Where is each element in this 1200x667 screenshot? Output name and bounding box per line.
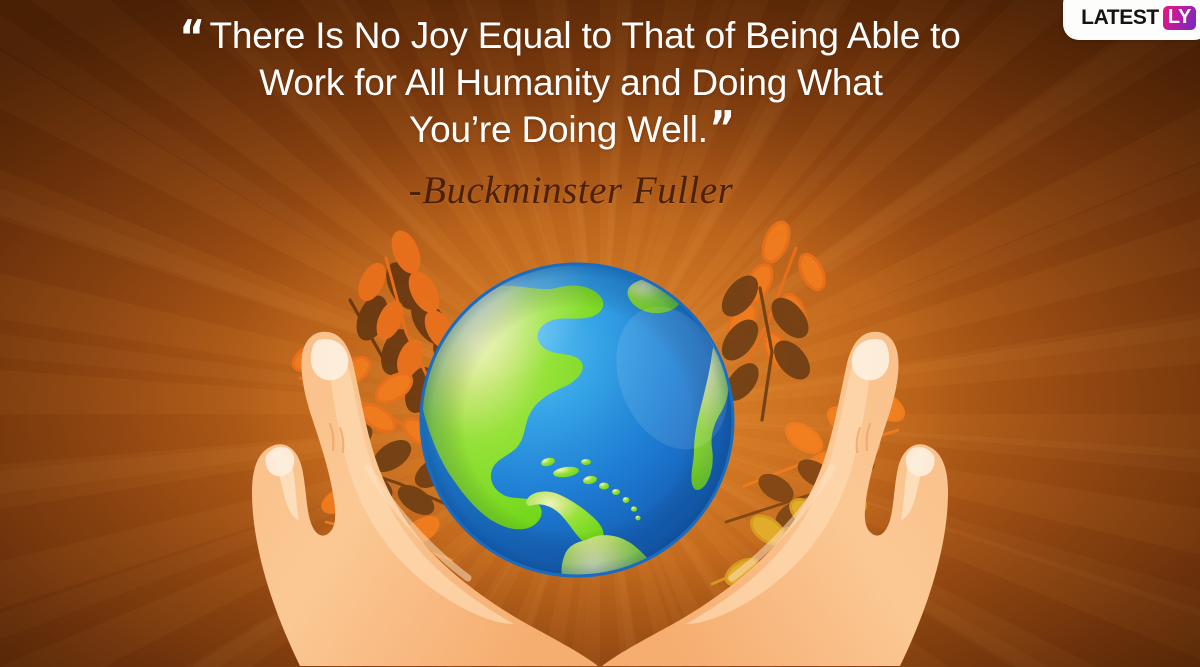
logo-wordmark-latest: LATEST xyxy=(1081,6,1159,30)
quote-line-1-text: There Is No Joy Equal to That of Being A… xyxy=(210,15,961,56)
poster-canvas: “There Is No Joy Equal to That of Being … xyxy=(0,0,1200,667)
quote-block: “There Is No Joy Equal to That of Being … xyxy=(96,12,1046,153)
quote-line-2: Work for All Humanity and Doing What xyxy=(96,59,1046,106)
quote-line-1: “There Is No Joy Equal to That of Being … xyxy=(96,12,1046,59)
logo-badge-ly: LY xyxy=(1163,6,1196,30)
quote-line-2-text: Work for All Humanity and Doing What xyxy=(259,62,882,103)
quote-line-3-text: You’re Doing Well. xyxy=(409,109,708,150)
quote-line-3: You’re Doing Well.” xyxy=(96,106,1046,153)
quote-attribution: -Buckminster Fuller xyxy=(96,168,1046,213)
latestly-logo[interactable]: LATEST LY xyxy=(1063,0,1200,40)
